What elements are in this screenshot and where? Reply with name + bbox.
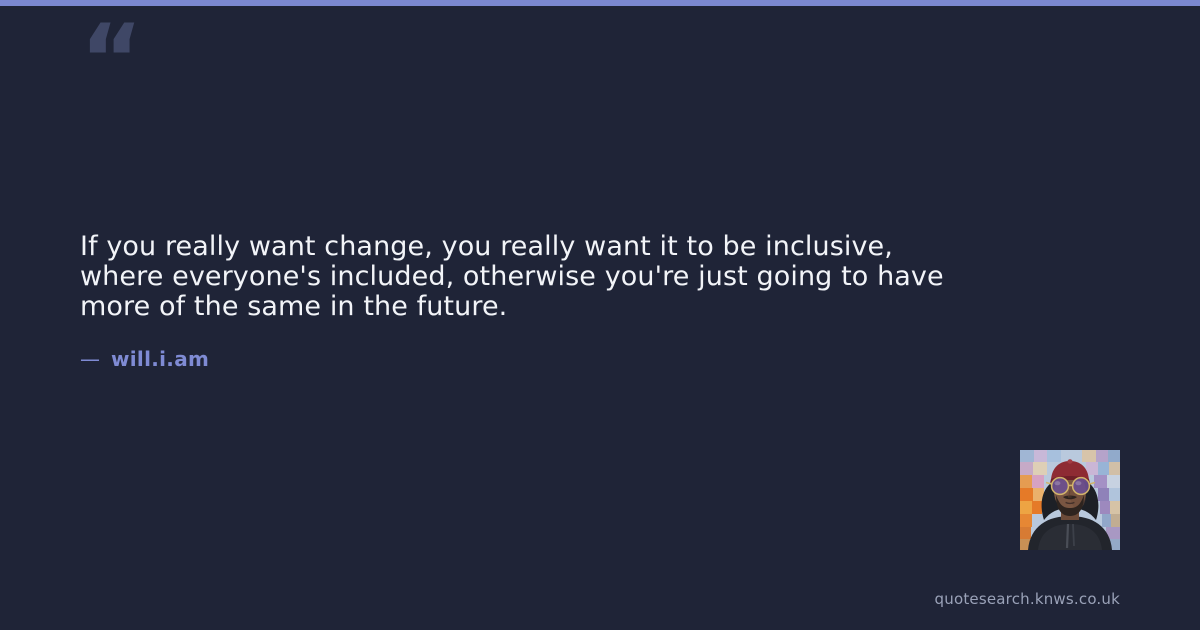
author-portrait-image xyxy=(1020,450,1120,550)
quote-text: If you really want change, you really wa… xyxy=(80,232,980,322)
quote-card: “ If you really want change, you really … xyxy=(0,0,1200,630)
author-portrait xyxy=(1020,450,1120,550)
quote-block: If you really want change, you really wa… xyxy=(80,232,980,322)
attribution-dash: — xyxy=(80,347,100,371)
quote-attribution: — will.i.am xyxy=(80,347,209,371)
top-accent-bar xyxy=(0,0,1200,6)
opening-quotation-mark-icon: “ xyxy=(80,12,160,92)
attribution-author-name: will.i.am xyxy=(111,347,209,371)
source-url: quotesearch.knws.co.uk xyxy=(935,590,1120,608)
